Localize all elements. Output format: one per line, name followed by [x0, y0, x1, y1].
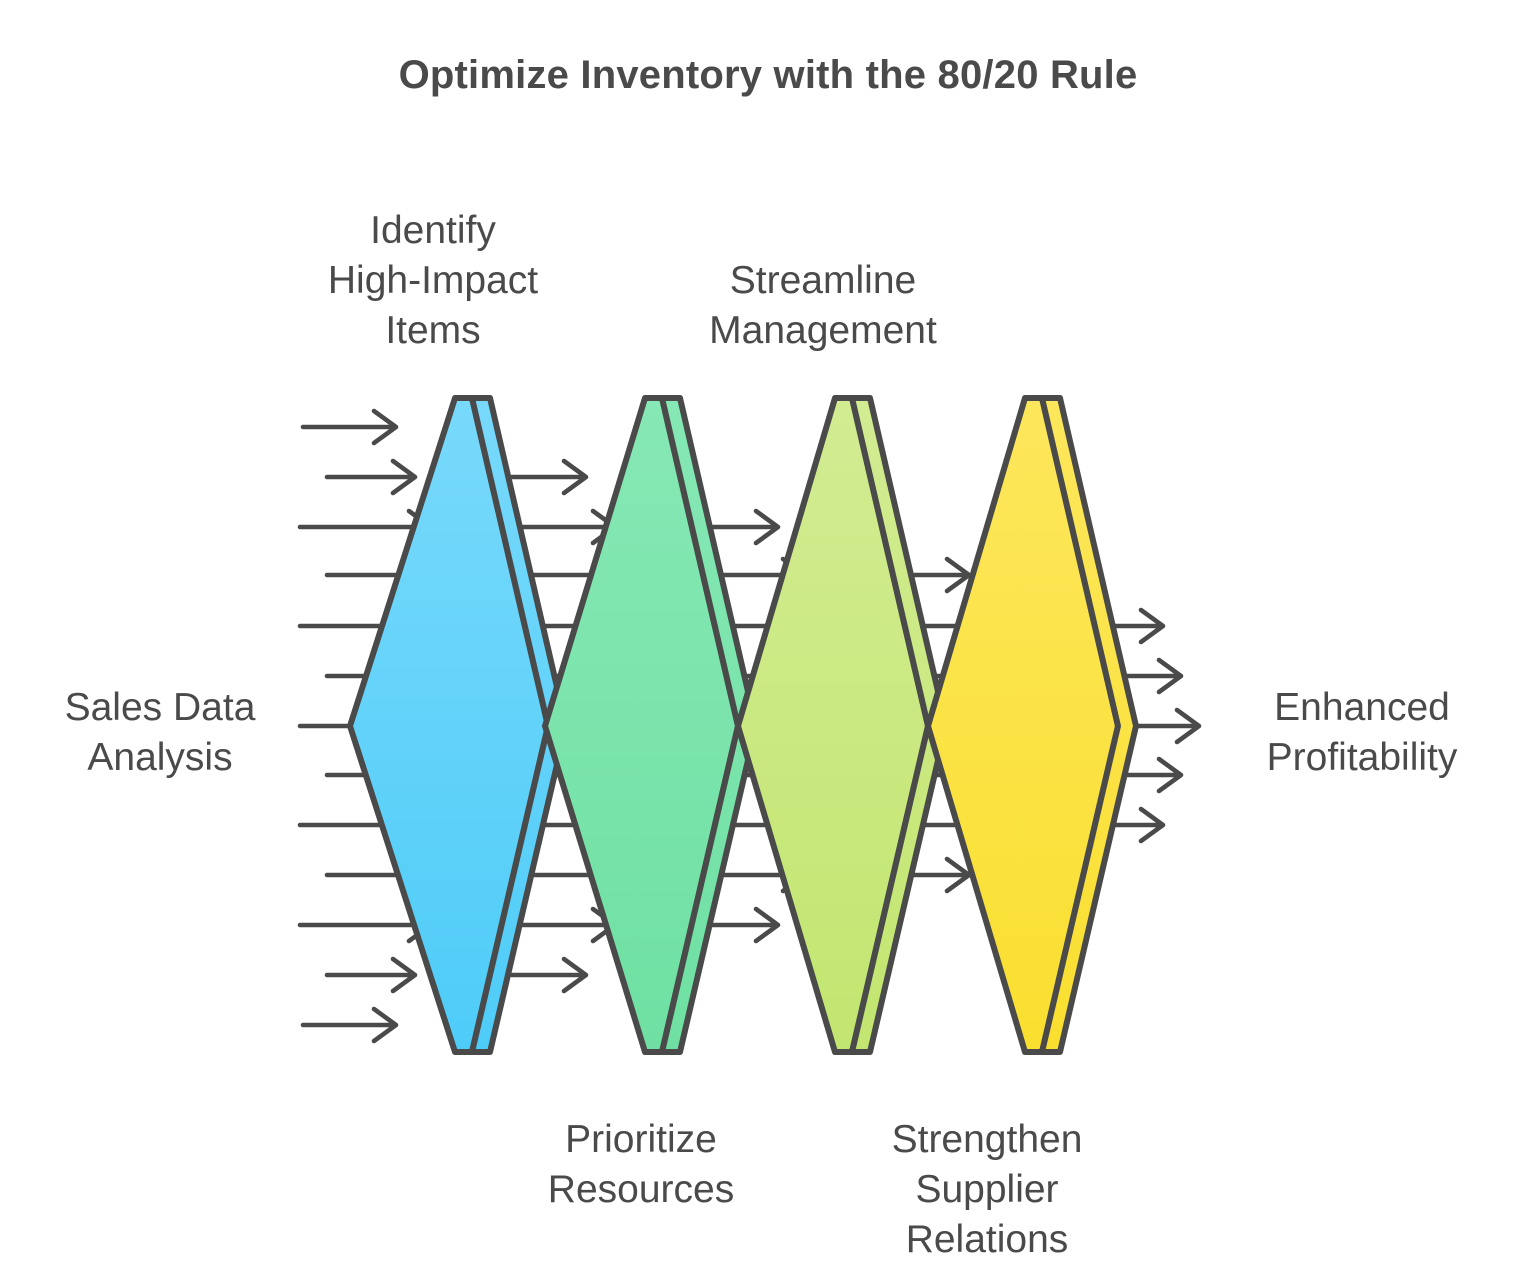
input-label-line2: Analysis: [87, 736, 232, 779]
stage-label-line: Items: [385, 309, 480, 352]
output-label-line2: Profitability: [1267, 736, 1458, 779]
input-label: Sales Data Analysis: [65, 686, 256, 779]
stage-label-line: Relations: [906, 1218, 1069, 1261]
stage-label-line: Identify: [370, 209, 496, 252]
funnel-stage-identify-high-impact-items[interactable]: [350, 398, 566, 1052]
flow-arrow: [512, 959, 586, 991]
page-title: Optimize Inventory with the 80/20 Rule: [399, 53, 1138, 97]
output-label: Enhanced Profitability: [1267, 686, 1458, 779]
stage-label-line: Supplier: [915, 1168, 1058, 1211]
stage-label-line: Streamline: [730, 259, 916, 302]
funnel-stage-streamline-management[interactable]: [738, 398, 946, 1052]
funnel-body-3[interactable]: [738, 398, 928, 1052]
flow-arrow: [303, 411, 396, 443]
flow-arrow: [327, 959, 415, 991]
flow-arrow: [512, 461, 586, 493]
diagram-canvas: Optimize Inventory with the 80/20 Rule: [0, 0, 1536, 1284]
stage-label-line: Prioritize: [565, 1118, 717, 1161]
stage-label-prioritize-resources: Prioritize Resources: [548, 1118, 734, 1211]
stage-label-identify-high-impact-items: Identify High-Impact Items: [328, 209, 538, 352]
funnel-body-2[interactable]: [545, 398, 738, 1052]
flow-arrow: [303, 1009, 396, 1041]
stage-label-line: Strengthen: [892, 1118, 1083, 1161]
stage-label-line: High-Impact: [328, 259, 538, 302]
funnel-diagram: Optimize Inventory with the 80/20 Rule: [0, 0, 1536, 1284]
funnel-stage-strengthen-supplier-relations[interactable]: [928, 398, 1136, 1052]
stage-label-strengthen-supplier-relations: Strengthen Supplier Relations: [892, 1118, 1083, 1261]
stage-label-line: Management: [709, 309, 937, 352]
stage-label-line: Resources: [548, 1168, 734, 1211]
funnel-stage-prioritize-resources[interactable]: [545, 398, 756, 1052]
funnel-body-1[interactable]: [350, 398, 548, 1052]
stage-label-streamline-management: Streamline Management: [709, 259, 937, 352]
funnel-body-4[interactable]: [928, 398, 1118, 1052]
input-label-line1: Sales Data: [65, 686, 256, 729]
output-label-line1: Enhanced: [1274, 686, 1450, 729]
flow-arrow: [327, 461, 415, 493]
